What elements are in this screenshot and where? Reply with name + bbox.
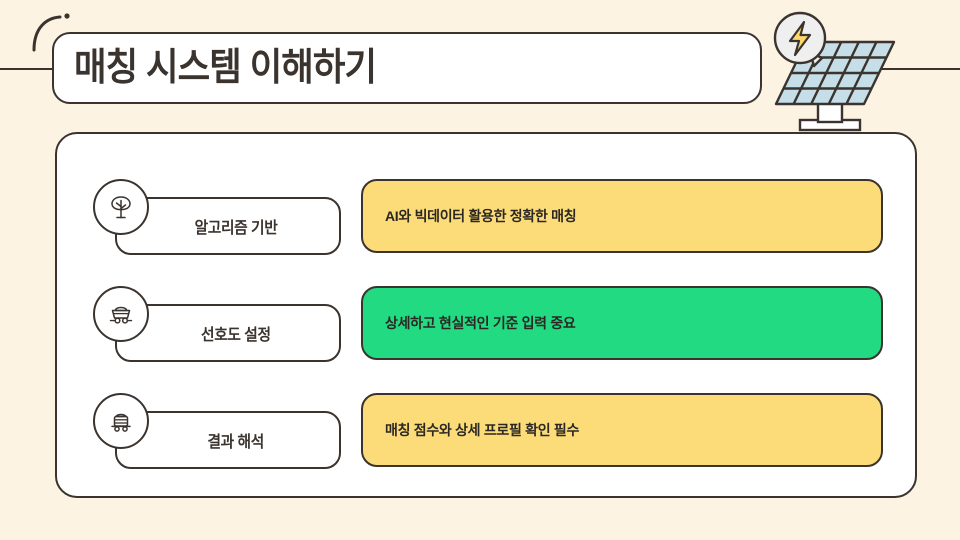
list-item: 선호도 설정 상세하고 현실적인 기준 입력 중요 (93, 286, 883, 362)
row-content-1: AI와 빅데이터 활용한 정확한 매칭 (385, 206, 576, 226)
row-content-panel-1[interactable]: AI와 빅데이터 활용한 정확한 매칭 (361, 179, 883, 253)
horizontal-rule-left (0, 68, 58, 70)
tree-icon (106, 192, 136, 222)
page-title: 매칭 시스템 이해하기 (74, 49, 376, 87)
row-content-panel-2[interactable]: 상세하고 현실적인 기준 입력 중요 (361, 286, 883, 360)
row-label-1: 알고리즘 기반 (195, 214, 278, 238)
row-badge-3[interactable] (93, 393, 149, 449)
row-content-panel-3[interactable]: 매칭 점수와 상세 프로필 확인 필수 (361, 393, 883, 467)
cart-front-icon (106, 406, 136, 436)
main-card: 알고리즘 기반 AI와 빅데이터 활용한 정확한 매칭 선호도 설정 (55, 132, 917, 498)
title-plate: 매칭 시스템 이해하기 (52, 32, 762, 104)
slide-canvas: 매칭 시스템 이해하기 (0, 0, 960, 540)
mine-cart-icon (106, 299, 136, 329)
row-badge-2[interactable] (93, 286, 149, 342)
row-content-2: 상세하고 현실적인 기준 입력 중요 (385, 313, 575, 333)
solar-panel-icon (744, 8, 904, 136)
row-badge-1[interactable] (93, 179, 149, 235)
row-label-3: 결과 해석 (208, 428, 264, 452)
row-content-3: 매칭 점수와 상세 프로필 확인 필수 (385, 420, 579, 440)
list-item: 알고리즘 기반 AI와 빅데이터 활용한 정확한 매칭 (93, 179, 883, 255)
row-label-2: 선호도 설정 (201, 321, 271, 345)
list-item: 결과 해석 매칭 점수와 상세 프로필 확인 필수 (93, 393, 883, 469)
